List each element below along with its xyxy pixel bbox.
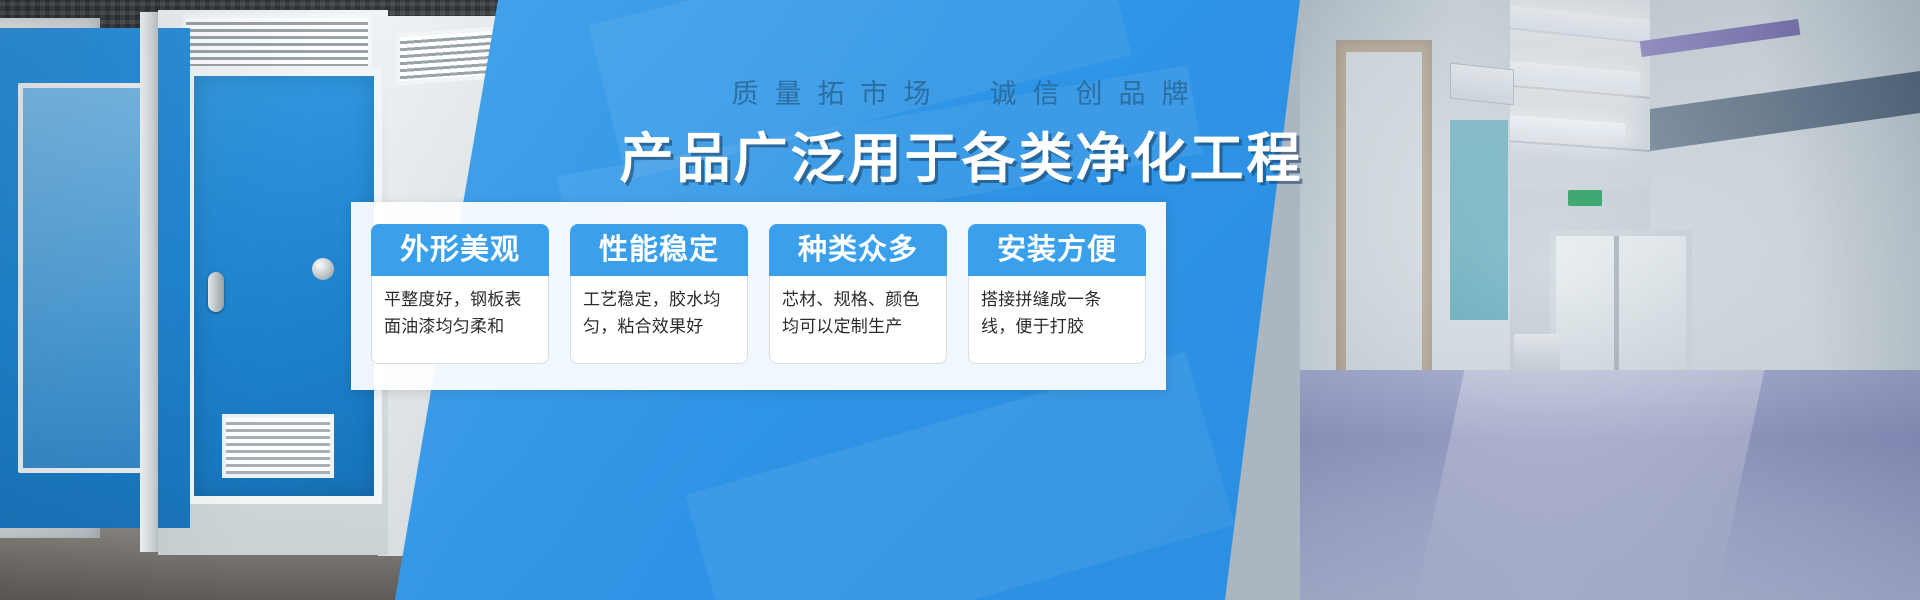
feature-card[interactable]: 种类众多 芯材、规格、颜色均可以定制生产 xyxy=(769,224,947,364)
feature-card-text: 搭接拼缝成一条线，便于打胶 xyxy=(968,276,1146,364)
promo-banner: 质量拓市场 诚信创品牌 产品广泛用于各类净化工程 外形美观 平整度好，钢板表面油… xyxy=(0,0,1920,600)
feature-card-title: 种类众多 xyxy=(769,224,947,276)
feature-card[interactable]: 性能稳定 工艺稳定，胶水均匀，粘合效果好 xyxy=(570,224,748,364)
feature-card-text: 平整度好，钢板表面油漆均匀柔和 xyxy=(371,276,549,364)
feature-card-title: 性能稳定 xyxy=(570,224,748,276)
banner-subtitle: 质量拓市场 诚信创品牌 xyxy=(0,72,1920,111)
features-card-row: 外形美观 平整度好，钢板表面油漆均匀柔和 性能稳定 工艺稳定，胶水均匀，粘合效果… xyxy=(351,202,1166,390)
feature-card-text: 芯材、规格、颜色均可以定制生产 xyxy=(769,276,947,364)
banner-headline: 产品广泛用于各类净化工程 xyxy=(0,114,1920,193)
feature-card-text: 工艺稳定，胶水均匀，粘合效果好 xyxy=(570,276,748,364)
feature-card[interactable]: 安装方便 搭接拼缝成一条线，便于打胶 xyxy=(968,224,1146,364)
feature-card[interactable]: 外形美观 平整度好，钢板表面油漆均匀柔和 xyxy=(371,224,549,364)
feature-card-title: 外形美观 xyxy=(371,224,549,276)
feature-card-title: 安装方便 xyxy=(968,224,1146,276)
